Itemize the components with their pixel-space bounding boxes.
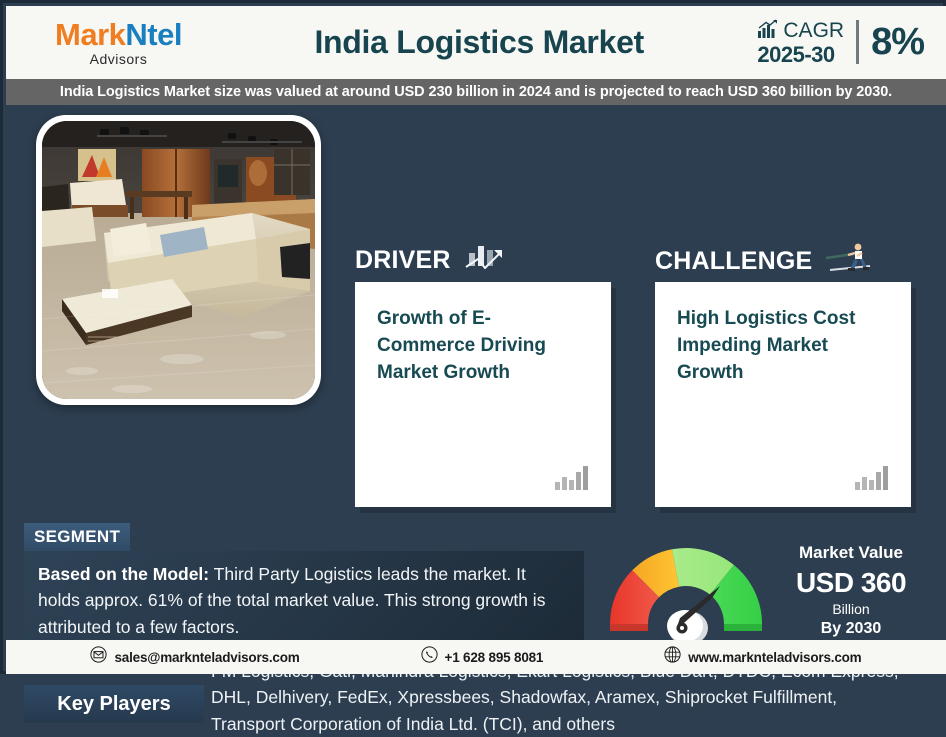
challenge-card-text: High Logistics Cost Impeding Market Grow… [677,306,889,387]
market-value-unit: Billion [766,601,936,617]
segment-lead: Based on the Model: [38,564,209,584]
subtitle-banner: India Logistics Market size was valued a… [6,79,946,105]
cagr-left: CAGR 2025-30 [757,19,844,67]
challenge-heading-label: CHALLENGE [655,247,812,276]
segment-text: Based on the Model: Third Party Logistic… [38,561,570,640]
logo-part-ntel: Ntel [125,17,182,52]
logo-part-mark: Mark [55,17,125,52]
bar-chart-icon [555,464,591,495]
footer-website[interactable]: www.marknteladvisors.com [664,646,861,668]
hero-photo-frame [36,115,321,405]
body-area: DRIVER CHALLENGE [6,105,946,640]
phone-icon [421,646,438,668]
market-value-title: Market Value [766,543,936,563]
company-logo[interactable]: MarkNtel Advisors [6,19,221,67]
driver-card: Growth of E-Commerce Driving Market Grow… [355,282,611,507]
footer-phone-text: +1 628 895 8081 [445,650,544,665]
key-players-badge: Key Players [24,685,204,723]
cagr-value: 8% [871,21,924,64]
footer-phone[interactable]: +1 628 895 8081 [421,646,544,668]
footer-website-text: www.marknteladvisors.com [688,650,861,665]
challenge-card: High Logistics Cost Impeding Market Grow… [655,282,911,507]
cagr-label: CAGR [783,20,844,42]
cagr-years: 2025-30 [757,43,834,66]
cagr-divider [856,20,859,64]
speedometer-gauge-icon [596,542,776,642]
challenge-heading: CHALLENGE [655,241,872,282]
footer-bar: sales@marknteladvisors.com +1 628 895 80… [6,640,946,674]
driver-heading-label: DRIVER [355,246,451,275]
segment-badge: SEGMENT [24,523,130,552]
furniture-showroom-photo [42,121,315,399]
logo-wordmark: MarkNtel [55,19,182,50]
page-title: India Logistics Market [201,24,757,61]
cagr-label-row: CAGR [757,19,844,44]
footer-email[interactable]: sales@marknteladvisors.com [90,646,299,668]
driver-heading: DRIVER [355,241,507,280]
footer-email-text: sales@marknteladvisors.com [114,650,299,665]
driver-card-text: Growth of E-Commerce Driving Market Grow… [377,306,589,387]
logo-subtitle: Advisors [90,51,148,67]
infographic-root: MarkNtel Advisors India Logistics Market [0,0,946,674]
bar-chart-growth-icon [757,19,779,44]
bar-chart-arrow-icon [463,241,507,280]
cagr-block: CAGR 2025-30 8% [757,19,946,67]
person-pulling-rope-icon [824,241,872,282]
market-value-year: By 2030 [766,620,936,638]
market-value-amount: USD 360 [766,567,936,599]
bar-chart-icon [855,464,891,495]
header-bar: MarkNtel Advisors India Logistics Market [6,6,946,79]
segment-box: Based on the Model: Third Party Logistic… [24,551,584,642]
globe-icon [664,646,681,668]
market-value-block: Market Value USD 360 Billion By 2030 [766,543,936,638]
envelope-icon [90,646,107,668]
